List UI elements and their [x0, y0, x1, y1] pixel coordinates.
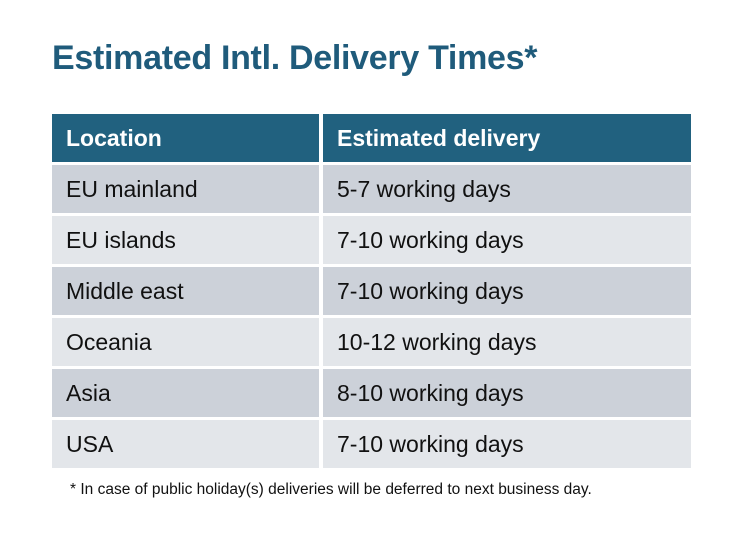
cell-location: Asia: [52, 369, 319, 417]
table-row: EU islands 7-10 working days: [52, 216, 691, 264]
table-row: Asia 8-10 working days: [52, 369, 691, 417]
column-header-estimated-delivery: Estimated delivery: [323, 114, 691, 162]
delivery-times-table: Location Estimated delivery EU mainland …: [52, 114, 691, 468]
cell-delivery: 7-10 working days: [323, 216, 691, 264]
table-row: Middle east 7-10 working days: [52, 267, 691, 315]
page-title: Estimated Intl. Delivery Times*: [52, 37, 537, 79]
cell-location: Oceania: [52, 318, 319, 366]
cell-location: EU islands: [52, 216, 319, 264]
cell-delivery: 8-10 working days: [323, 369, 691, 417]
table-row: Oceania 10-12 working days: [52, 318, 691, 366]
footnote: * In case of public holiday(s) deliverie…: [70, 480, 592, 500]
cell-location: USA: [52, 420, 319, 468]
cell-location: Middle east: [52, 267, 319, 315]
delivery-times-card: Estimated Intl. Delivery Times* Location…: [0, 0, 745, 536]
cell-location: EU mainland: [52, 165, 319, 213]
table-row: EU mainland 5-7 working days: [52, 165, 691, 213]
cell-delivery: 10-12 working days: [323, 318, 691, 366]
column-header-location: Location: [52, 114, 319, 162]
cell-delivery: 7-10 working days: [323, 420, 691, 468]
table-row: USA 7-10 working days: [52, 420, 691, 468]
table-header-row: Location Estimated delivery: [52, 114, 691, 162]
cell-delivery: 5-7 working days: [323, 165, 691, 213]
cell-delivery: 7-10 working days: [323, 267, 691, 315]
